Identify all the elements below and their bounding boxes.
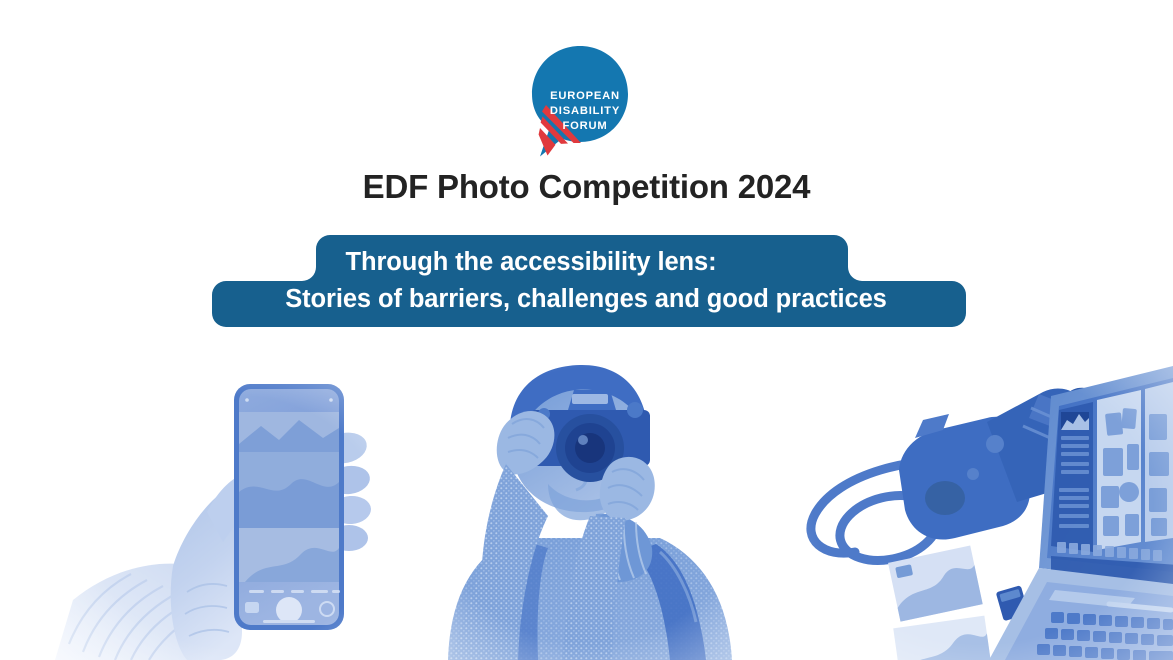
logo-line-3: FORUM (562, 120, 607, 132)
camera-mode-row (249, 590, 340, 593)
shutter-button (276, 597, 302, 623)
edf-logo: EUROPEAN DISABILITY FORUM (521, 43, 639, 158)
page-title: EDF Photo Competition 2024 (0, 166, 1173, 208)
banner-line-2: Stories of barriers, challenges and good… (206, 285, 966, 314)
home-indicator (263, 620, 315, 623)
printed-photos (888, 545, 993, 660)
logo-line-1: EUROPEAN (550, 90, 620, 102)
camera-button (967, 468, 979, 480)
camera-dial (627, 402, 643, 418)
logo-line-2: DISABILITY (550, 105, 620, 117)
editor-thumbnail-grid (1097, 382, 1173, 550)
camera-brand-plate (572, 394, 608, 404)
camera-grip (925, 481, 965, 515)
gallery-thumbnail (245, 602, 259, 613)
viewfinder-landscape (239, 412, 339, 582)
photo-hand-holding-smartphone (55, 352, 415, 660)
banner-line-1: Through the accessibility lens: (206, 248, 966, 277)
camera-mode-dial (986, 435, 1004, 453)
edf-photo-competition-banner: EUROPEAN DISABILITY FORUM EDF Photo Comp… (0, 0, 1173, 660)
subtitle-banner: Through the accessibility lens: Stories … (206, 231, 966, 331)
laptop-keyboard (1037, 612, 1173, 660)
photo-person-with-film-camera (420, 352, 760, 660)
phone-status-dot-right (329, 398, 333, 402)
photo-dslr-camera-and-laptop (793, 352, 1173, 660)
photo-strip (0, 352, 1173, 660)
smartphone (234, 384, 344, 630)
phone-status-dot-left (245, 398, 249, 402)
